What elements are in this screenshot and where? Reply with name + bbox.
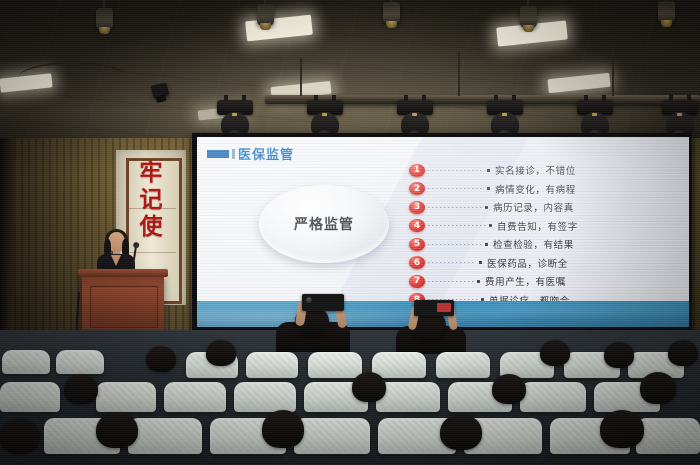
attendee-head bbox=[352, 372, 386, 402]
wall-left-edge bbox=[0, 138, 14, 353]
par-can-spotlight bbox=[257, 4, 274, 26]
light-indicator bbox=[592, 113, 597, 116]
light-indicator bbox=[322, 113, 327, 116]
truss-cable bbox=[458, 52, 460, 96]
auditorium-seat bbox=[96, 382, 156, 412]
attendee-head bbox=[540, 340, 570, 366]
smartphone bbox=[302, 294, 344, 311]
attendee-head bbox=[262, 410, 304, 448]
light-indicator bbox=[412, 113, 417, 116]
auditorium-seat bbox=[294, 418, 370, 454]
truss-cable bbox=[612, 48, 614, 96]
auditorium-seat bbox=[234, 382, 296, 412]
attendee-head bbox=[0, 418, 40, 454]
auditorium-seat bbox=[520, 382, 586, 412]
attendee-head bbox=[492, 374, 526, 404]
auditorium-seat bbox=[2, 350, 50, 374]
ceiling-cable bbox=[18, 62, 128, 94]
phone-screen bbox=[437, 303, 451, 312]
par-can-spotlight bbox=[520, 6, 537, 28]
banner-char-2: 记 bbox=[140, 189, 163, 212]
attendee-head bbox=[96, 412, 138, 448]
auditorium-seat bbox=[372, 352, 426, 378]
auditorium-seat bbox=[56, 350, 104, 374]
truss-cable bbox=[300, 58, 302, 96]
light-indicator bbox=[232, 113, 237, 116]
light-indicator bbox=[502, 113, 507, 116]
attendee-head bbox=[206, 340, 236, 366]
podium-top-surface bbox=[78, 269, 168, 277]
attendee-head bbox=[668, 340, 698, 366]
attendee-head bbox=[64, 374, 98, 404]
phone-camera-lens-icon bbox=[306, 297, 312, 303]
auditorium-seat bbox=[636, 418, 700, 454]
projected-slide: 医保监管 严格监管 1 实名接诊，不错位 2 病情变化，有病程 3 病 bbox=[197, 137, 689, 327]
banner-char-3: 使 bbox=[140, 216, 163, 239]
attendee-head bbox=[640, 372, 676, 404]
podium-front-panel bbox=[90, 286, 158, 328]
attendee-head bbox=[600, 410, 644, 448]
light-indicator bbox=[677, 113, 682, 116]
attendee-head bbox=[604, 342, 634, 368]
auditorium-seat bbox=[436, 352, 490, 378]
photo-scene: 牢 记 使 医保监管 严格监管 1 实名接诊，不错位 2 bbox=[0, 0, 700, 465]
auditorium-seat bbox=[308, 352, 362, 378]
par-can-spotlight bbox=[658, 1, 675, 23]
auditorium-seat bbox=[0, 382, 60, 412]
par-can-spotlight bbox=[96, 8, 113, 30]
auditorium-seat bbox=[128, 418, 202, 454]
par-can-spotlight bbox=[383, 2, 400, 24]
auditorium-seat bbox=[164, 382, 226, 412]
attendee-head bbox=[440, 414, 482, 450]
auditorium-seat bbox=[246, 352, 298, 378]
attendee-head bbox=[146, 346, 176, 372]
banner-char-1: 牢 bbox=[140, 162, 163, 185]
smartphone bbox=[414, 300, 454, 316]
projection-scanlines bbox=[197, 137, 689, 327]
